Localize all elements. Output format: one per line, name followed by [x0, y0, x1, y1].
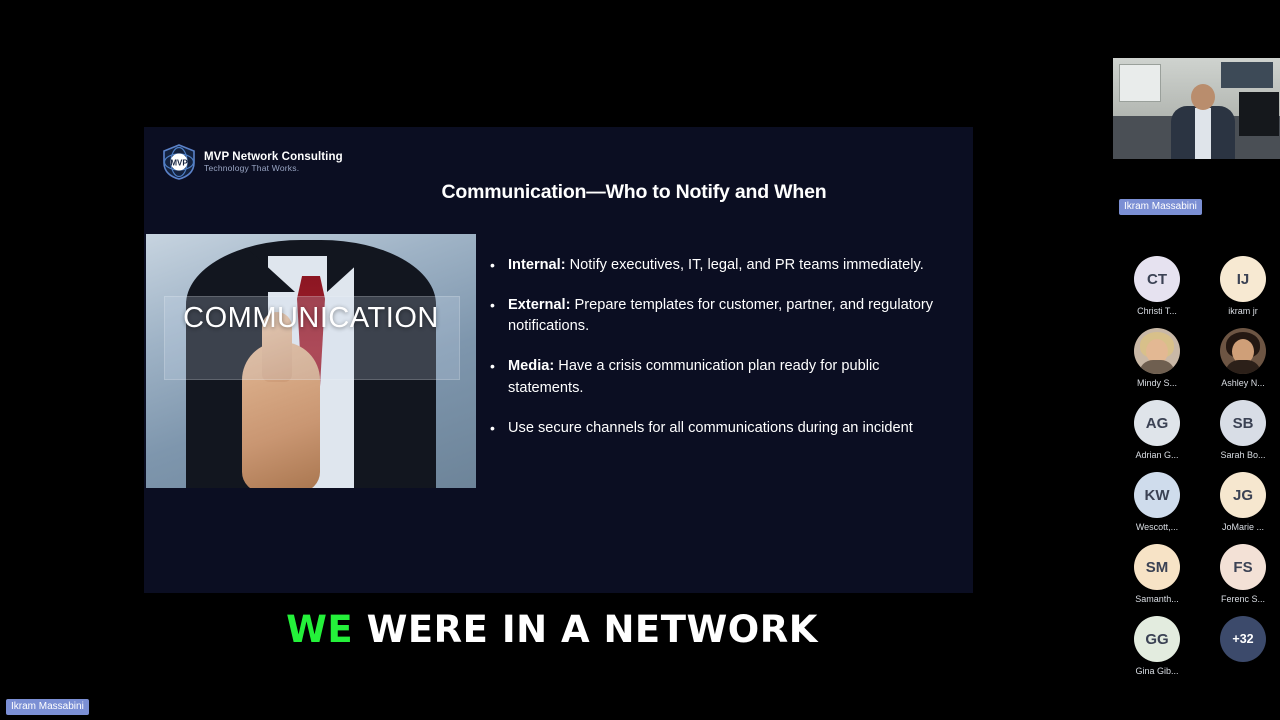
live-caption: WE WERE IN A NETWORK — [0, 608, 1104, 651]
participant-name: Christi T... — [1127, 306, 1187, 316]
bullet-lead: External: — [508, 297, 570, 313]
logo-subtitle: Technology That Works. — [204, 164, 343, 173]
participant-tile[interactable]: IJ ikram jr — [1213, 256, 1273, 316]
avatar: JG — [1220, 472, 1266, 518]
avatar: FS — [1220, 544, 1266, 590]
avatar: IJ — [1220, 256, 1266, 302]
bullet-lead: Media: — [508, 358, 554, 374]
wall-poster-shape — [1221, 62, 1273, 88]
window-shape — [1119, 64, 1161, 102]
caption-highlight-word: WE — [286, 608, 353, 651]
participant-name: Wescott,... — [1127, 522, 1187, 532]
slide-bullet-list: Internal: Notify executives, IT, legal, … — [488, 255, 958, 458]
shield-mvp-logo-icon: MVP — [162, 144, 196, 180]
participant-tile[interactable]: SB Sarah Bo... — [1213, 400, 1273, 460]
participant-tile[interactable]: Ashley N... — [1213, 328, 1273, 388]
slide-logo: MVP MVP Network Consulting Technology Th… — [162, 144, 343, 180]
avatar: CT — [1134, 256, 1180, 302]
person-head-shape — [1191, 84, 1215, 110]
avatar: GG — [1134, 616, 1180, 662]
presentation-slide: MVP MVP Network Consulting Technology Th… — [144, 127, 973, 593]
bullet-item: Media: Have a crisis communication plan … — [488, 356, 958, 398]
participant-tile[interactable]: AG Adrian G... — [1127, 400, 1187, 460]
svg-text:MVP: MVP — [170, 159, 188, 168]
participant-name: Ferenc S... — [1213, 594, 1273, 604]
logo-title: MVP Network Consulting — [204, 151, 343, 163]
participant-name: Adrian G... — [1127, 450, 1187, 460]
participant-tile[interactable]: SM Samanth... — [1127, 544, 1187, 604]
participant-row: CT Christi T... IJ ikram jr — [1127, 256, 1273, 316]
participant-overflow-tile[interactable]: +32 — [1213, 616, 1273, 676]
avatar: AG — [1134, 400, 1180, 446]
self-view-name-badge: Ikram Massabini — [1119, 199, 1202, 215]
participant-name: JoMarie ... — [1213, 522, 1273, 532]
participant-row: GG Gina Gib... +32 — [1127, 616, 1273, 676]
self-view-tile[interactable] — [1113, 58, 1280, 159]
participant-row: Mindy S... Ashley N... — [1127, 328, 1273, 388]
participant-name: Mindy S... — [1127, 378, 1187, 388]
bullet-text: Notify executives, IT, legal, and PR tea… — [566, 257, 924, 273]
participant-name: Gina Gib... — [1127, 666, 1187, 676]
participant-name: Sarah Bo... — [1213, 450, 1273, 460]
participant-row: SM Samanth... FS Ferenc S... — [1127, 544, 1273, 604]
collar-right-shape — [327, 250, 373, 292]
participant-name: Ashley N... — [1213, 378, 1273, 388]
body-shape — [1139, 360, 1175, 374]
bullet-text: Prepare templates for customer, partner,… — [508, 297, 933, 334]
participant-tile[interactable]: CT Christi T... — [1127, 256, 1187, 316]
person-shirt-shape — [1195, 108, 1211, 159]
participant-row: KW Wescott,... JG JoMarie ... — [1127, 472, 1273, 532]
collar-left-shape — [249, 250, 295, 292]
slide-illustration: COMMUNICATION — [146, 234, 476, 488]
active-speaker-name-badge: Ikram Massabini — [6, 699, 89, 715]
participant-name: Samanth... — [1127, 594, 1187, 604]
bullet-item: External: Prepare templates for customer… — [488, 295, 958, 337]
avatar: SM — [1134, 544, 1180, 590]
avatar — [1220, 328, 1266, 374]
meeting-screen-share-view: MVP MVP Network Consulting Technology Th… — [0, 0, 1280, 720]
participant-rail: CT Christi T... IJ ikram jr Mindy S... — [1127, 256, 1273, 688]
body-shape — [1225, 360, 1261, 374]
bullet-item: Internal: Notify executives, IT, legal, … — [488, 255, 958, 276]
monitor-shape — [1239, 92, 1279, 136]
participant-name: ikram jr — [1213, 306, 1273, 316]
overflow-count-badge: +32 — [1220, 616, 1266, 662]
caption-rest-text: WERE IN A NETWORK — [353, 608, 818, 651]
image-overlay-word: COMMUNICATION — [146, 302, 476, 335]
participant-row: AG Adrian G... SB Sarah Bo... — [1127, 400, 1273, 460]
participant-tile[interactable]: JG JoMarie ... — [1213, 472, 1273, 532]
participant-tile[interactable]: KW Wescott,... — [1127, 472, 1187, 532]
participant-tile[interactable]: Mindy S... — [1127, 328, 1187, 388]
bullet-text: Have a crisis communication plan ready f… — [508, 358, 879, 395]
bullet-item: Use secure channels for all communicatio… — [488, 418, 958, 439]
slide-title: Communication—Who to Notify and When — [324, 181, 944, 204]
bullet-text: Use secure channels for all communicatio… — [508, 420, 913, 436]
bullet-lead: Internal: — [508, 257, 566, 273]
avatar: KW — [1134, 472, 1180, 518]
avatar: SB — [1220, 400, 1266, 446]
avatar — [1134, 328, 1180, 374]
participant-tile[interactable]: FS Ferenc S... — [1213, 544, 1273, 604]
participant-tile[interactable]: GG Gina Gib... — [1127, 616, 1187, 676]
